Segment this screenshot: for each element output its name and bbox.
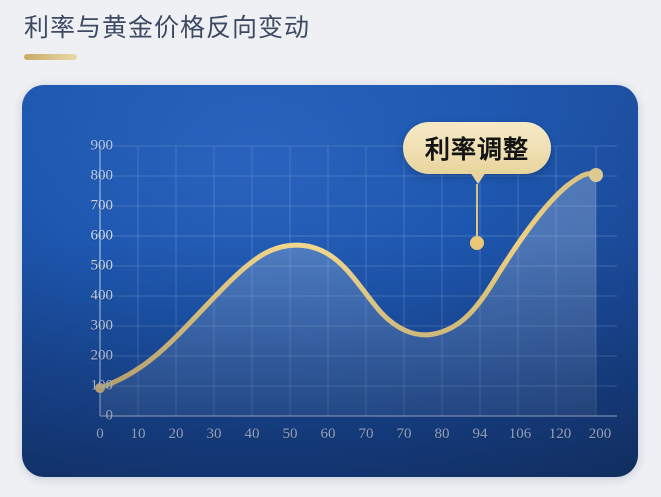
x-tick: 30 xyxy=(207,426,222,443)
x-tick: 80 xyxy=(435,426,450,443)
x-tick: 70 xyxy=(397,426,412,443)
x-tick: 200 xyxy=(589,426,612,443)
x-tick: 94 xyxy=(473,426,488,443)
x-tick: 120 xyxy=(549,426,572,443)
x-tick: 70 xyxy=(359,426,374,443)
x-tick: 10 xyxy=(131,426,146,443)
page-title: 利率与黄金价格反向变动 xyxy=(24,8,310,44)
annotation-callout[interactable]: 利率调整 xyxy=(403,122,551,174)
title-accent-bar xyxy=(24,54,77,60)
x-tick: 60 xyxy=(321,426,336,443)
x-tick: 20 xyxy=(169,426,184,443)
x-tick: 50 xyxy=(283,426,298,443)
x-tick: 40 xyxy=(245,426,260,443)
x-tick: 106 xyxy=(509,426,532,443)
annotation-callout-tail xyxy=(470,172,486,184)
x-tick: 0 xyxy=(96,426,104,443)
annotation-callout-label: 利率调整 xyxy=(425,130,529,166)
